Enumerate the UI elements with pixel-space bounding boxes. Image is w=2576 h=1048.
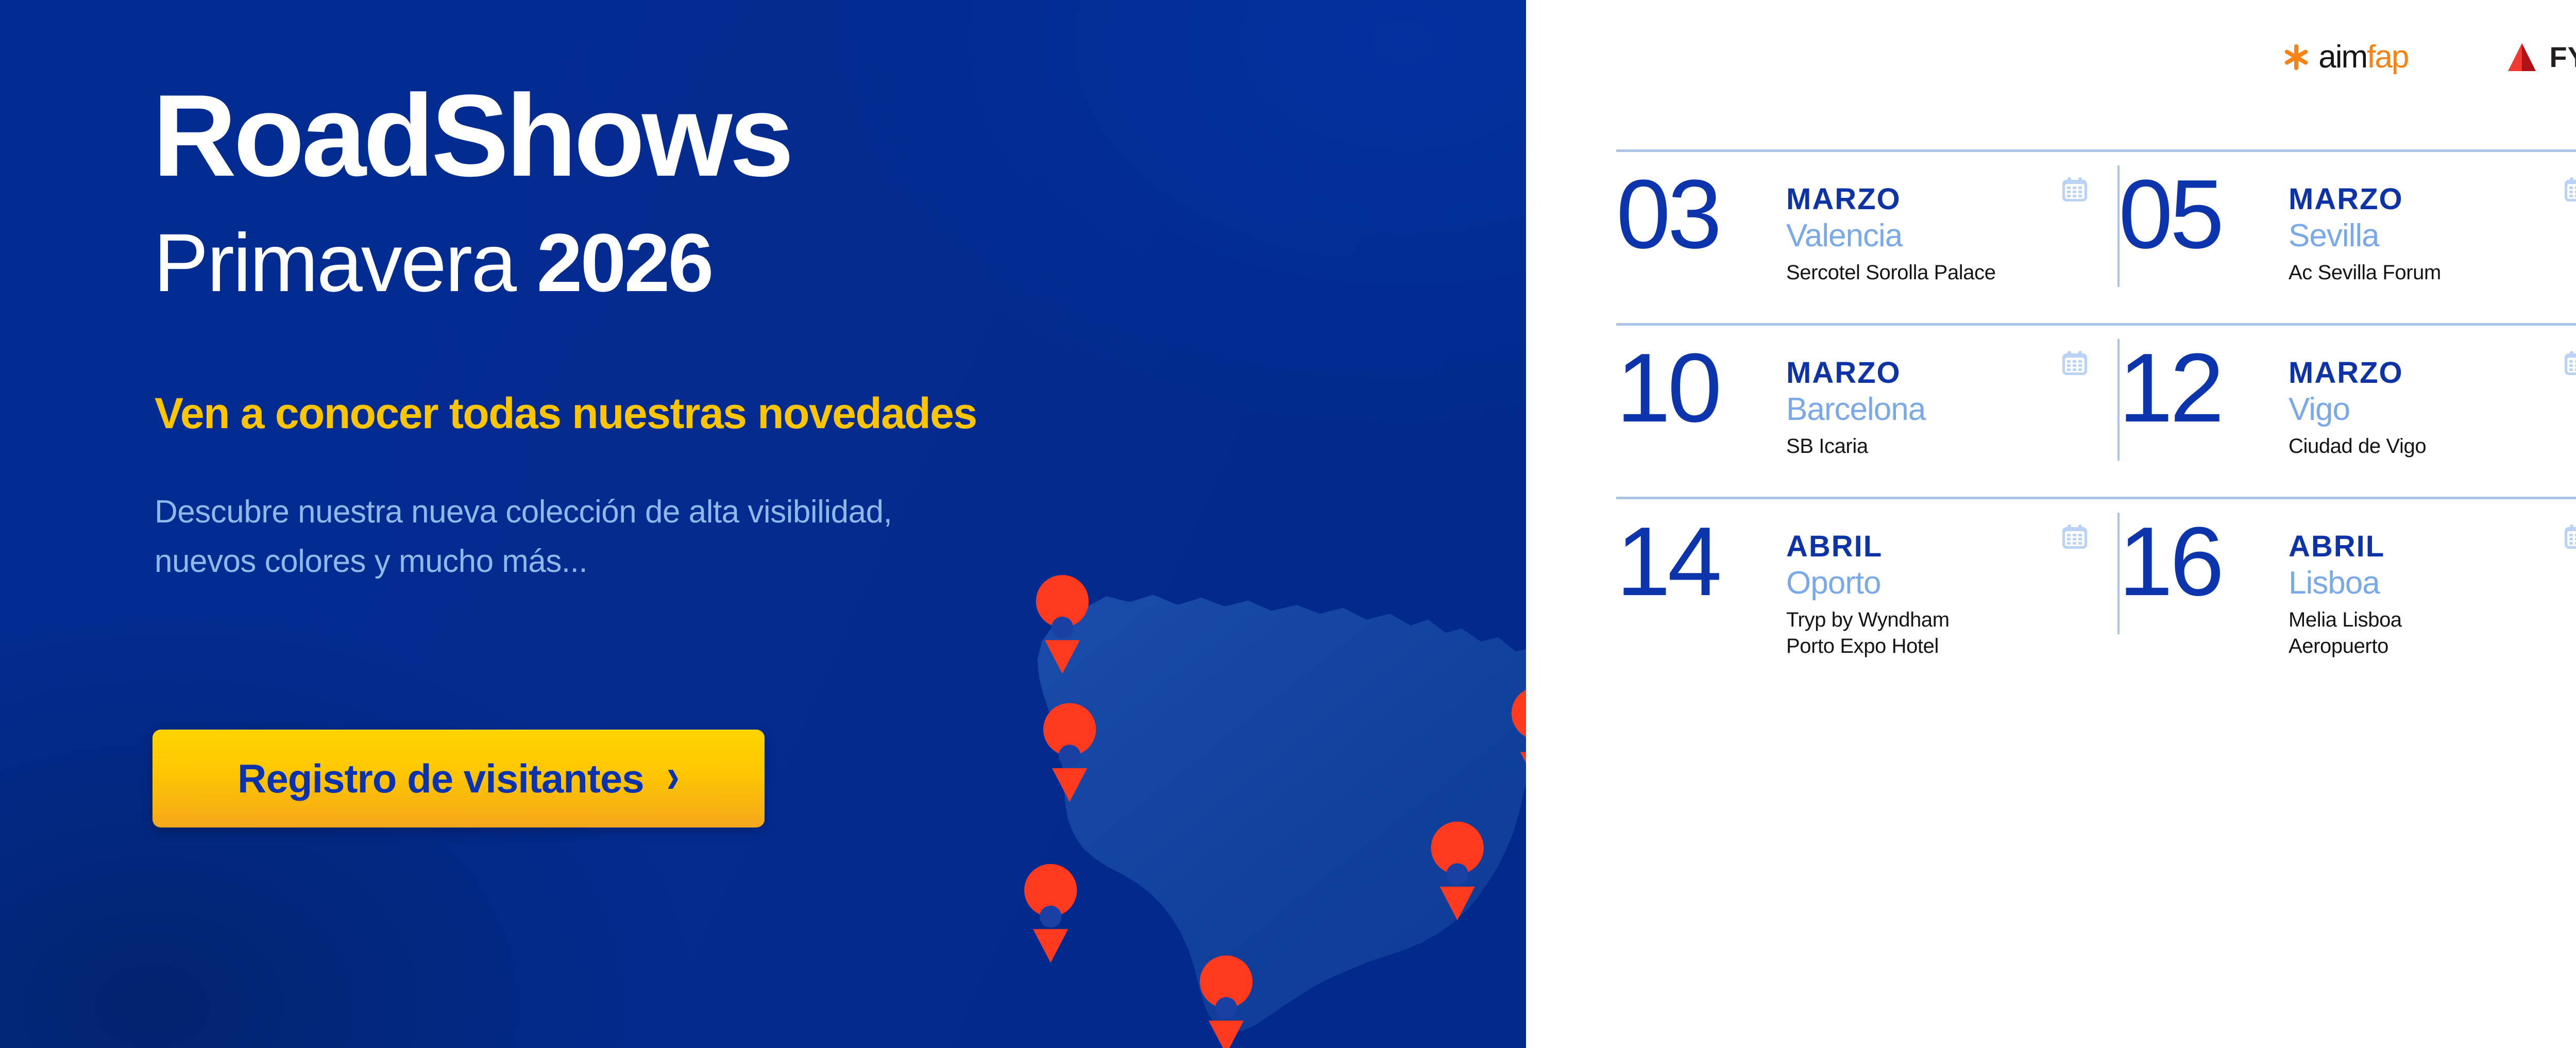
event-day: 10 [1616, 346, 1786, 430]
event-city: Sevilla [2289, 216, 2576, 256]
event-info: MARZO Sevilla Ac Sevilla Forum [2289, 173, 2576, 286]
logo-aimfap-accent: fap [2367, 39, 2408, 75]
visitor-registration-label: Registro de visitantes [238, 755, 644, 802]
event-venue-line-1: Sercotel Sorolla Palace [1786, 261, 1996, 284]
event-venue: Melia Lisboa Aeropuerto [2289, 607, 2576, 660]
events-row-1-body: 03 MARZO Valencia Sercotel Sorolla Palac… [1616, 152, 2576, 301]
event-venue-line-1: SB Icaria [1786, 435, 1868, 458]
schedule-panel: aimfap FYVAR [1526, 0, 2576, 1048]
event-venue-line-1: Ciudad de Vigo [2289, 435, 2426, 458]
calendar-icon [2061, 176, 2089, 204]
event-venue: Sercotel Sorolla Palace [1786, 260, 2119, 286]
event-day: 14 [1616, 520, 1786, 604]
event-venue: Ciudad de Vigo [2289, 433, 2576, 460]
logo-aimfap-text: aimfap [2318, 41, 2408, 73]
hero-tagline: Ven a conocer todas nuestras novedades [155, 388, 977, 438]
event-city: Oporto [1786, 564, 2119, 603]
event-info: ABRIL Lisboa Melia Lisboa Aeropuerto [2289, 520, 2576, 660]
event-day: 12 [2119, 346, 2289, 430]
logo-aimfap-dark: aim [2318, 39, 2367, 75]
page-title: RoadShows [152, 77, 791, 194]
event-card[interactable]: 10 MARZO Barcelona SB Icaria [1616, 326, 2119, 475]
logo-bar: aimfap FYVAR [2279, 40, 2576, 74]
event-card[interactable]: 03 MARZO Valencia Sercotel Sorolla Palac… [1616, 152, 2119, 301]
event-city: Vigo [2289, 390, 2576, 429]
event-venue-line-1: Ac Sevilla Forum [2289, 261, 2441, 284]
event-month: ABRIL [2289, 531, 2576, 563]
event-info: ABRIL Oporto Tryp by Wyndham Porto Expo … [1786, 520, 2119, 660]
event-venue-line-1: Tryp by Wyndham [1786, 607, 2119, 633]
calendar-icon [2061, 349, 2089, 377]
event-info: MARZO Valencia Sercotel Sorolla Palace [1786, 173, 2119, 286]
event-venue-line-1: Melia Lisboa [2289, 607, 2576, 633]
hero-description-line-1: Descubre nuestra nueva colección de alta… [155, 487, 1236, 537]
event-venue: SB Icaria [1786, 433, 2119, 460]
event-day: 16 [2119, 520, 2289, 604]
iberian-peninsula-map [934, 543, 1526, 1048]
asterisk-icon [2279, 40, 2313, 74]
hero-season: Primavera [154, 216, 515, 309]
events-grid: 03 MARZO Valencia Sercotel Sorolla Palac… [1616, 149, 2576, 649]
hero-content: RoadShows Primavera 2026 Ven a conocer t… [152, 0, 1492, 1048]
event-city: Valencia [1786, 216, 2119, 256]
events-row-3-body: 14 ABRIL Oporto Tryp by Wyndham Porto Ex… [1616, 499, 2576, 649]
triangle-icon [2506, 42, 2538, 72]
row-gap [1616, 475, 2576, 497]
event-info: MARZO Barcelona SB Icaria [1786, 346, 2119, 460]
logo-aimfap[interactable]: aimfap [2279, 40, 2408, 74]
hero-year: 2026 [537, 216, 712, 309]
event-city: Lisboa [2289, 564, 2576, 603]
calendar-icon [2061, 523, 2089, 551]
calendar-icon [2563, 176, 2576, 204]
hero-subtitle: Primavera 2026 [154, 222, 711, 304]
event-month: MARZO [2289, 184, 2576, 215]
event-day: 03 [1616, 173, 1786, 257]
event-card[interactable]: 14 ABRIL Oporto Tryp by Wyndham Porto Ex… [1616, 499, 2119, 649]
event-venue: Tryp by Wyndham Porto Expo Hotel [1786, 607, 2119, 660]
visitor-registration-button[interactable]: Registro de visitantes › [152, 730, 765, 827]
chevron-right-icon: › [667, 752, 680, 801]
row-gap [1616, 301, 2576, 323]
events-row-2-body: 10 MARZO Barcelona SB Icaria [1616, 326, 2576, 475]
event-venue: Ac Sevilla Forum [2289, 260, 2576, 286]
map-pin-lisboa [1024, 864, 1077, 963]
event-card[interactable]: 12 MARZO Vigo Ciudad de Vigo [2119, 326, 2576, 475]
map-landmass [1038, 595, 1526, 1032]
event-card[interactable]: 16 ABRIL Lisboa Melia Lisboa Aeropuerto [2119, 499, 2576, 649]
event-venue-line-2: Aeropuerto [2289, 633, 2576, 660]
logo-fyvar-text: FYVAR [2549, 43, 2576, 72]
calendar-icon [2563, 349, 2576, 377]
hero-panel: RoadShows Primavera 2026 Ven a conocer t… [0, 0, 1526, 1048]
event-venue-line-2: Porto Expo Hotel [1786, 633, 2119, 660]
event-month: MARZO [2289, 358, 2576, 389]
logo-fyvar[interactable]: FYVAR [2506, 42, 2576, 72]
event-card[interactable]: 05 MARZO Sevilla Ac Sevilla Forum [2119, 152, 2576, 301]
event-city: Barcelona [1786, 390, 2119, 429]
event-info: MARZO Vigo Ciudad de Vigo [2289, 346, 2576, 460]
roadshows-banner: RoadShows Primavera 2026 Ven a conocer t… [0, 0, 2576, 1048]
event-day: 05 [2119, 173, 2289, 257]
calendar-icon [2563, 523, 2576, 551]
